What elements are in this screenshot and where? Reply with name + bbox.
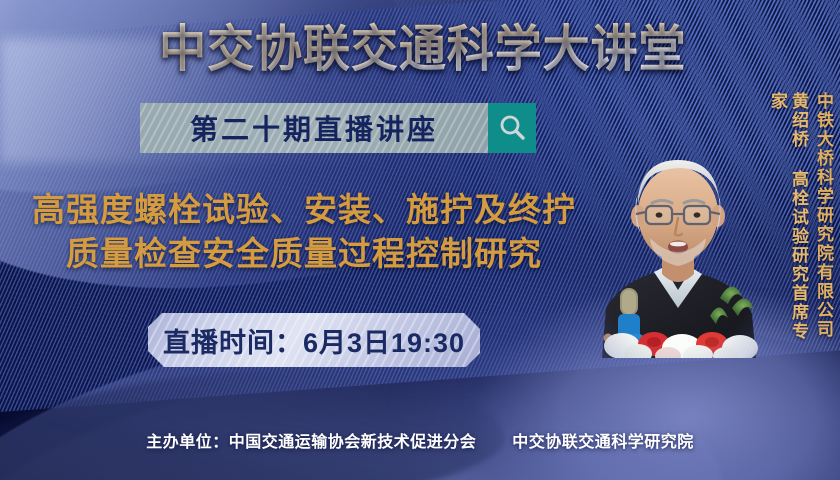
broadcast-time-label: 直播时间：6月3日19:30: [163, 321, 465, 360]
footer-organizers: 主办单位：中国交通运输协会新技术促进分会 中交协联交通科学研究院: [0, 428, 840, 452]
broadcast-time-badge: 直播时间：6月3日19:30: [148, 313, 480, 367]
lecture-headline: 高强度螺栓试验、安装、施拧及终拧 质量检查安全质量过程控制研究: [8, 188, 600, 276]
search-icon[interactable]: [488, 103, 536, 153]
footer-organizer-label: 主办单位：中国交通运输协会新技术促进分会: [146, 434, 476, 451]
speaker-organization: 中铁大桥科学研究院有限公司: [813, 92, 834, 342]
subtitle-bar: 第二十期直播讲座: [140, 103, 488, 153]
subtitle-row: 第二十期直播讲座: [140, 103, 536, 153]
speaker-credits: 黄绍桥 高栓试验研究首席专家 中铁大桥科学研究院有限公司: [767, 92, 834, 342]
headline-line-1: 高强度螺栓试验、安装、施拧及终拧: [32, 191, 576, 228]
page-title: 中交协联交通科学大讲堂: [25, 20, 815, 78]
speaker-name-and-title: 黄绍桥 高栓试验研究首席专家: [767, 92, 809, 342]
subtitle-label: 第二十期直播讲座: [190, 108, 438, 148]
live-lecture-promo-banner: 中交协联交通科学大讲堂 第二十期直播讲座 高强度螺栓试验、安装、施拧及终拧 质量…: [0, 0, 840, 480]
banner-content: 中交协联交通科学大讲堂 第二十期直播讲座 高强度螺栓试验、安装、施拧及终拧 质量…: [0, 0, 840, 480]
footer-institute-label: 中交协联交通科学研究院: [512, 434, 694, 451]
headline-line-2: 质量检查安全质量过程控制研究: [8, 232, 600, 276]
speaker-photo: [592, 148, 764, 358]
